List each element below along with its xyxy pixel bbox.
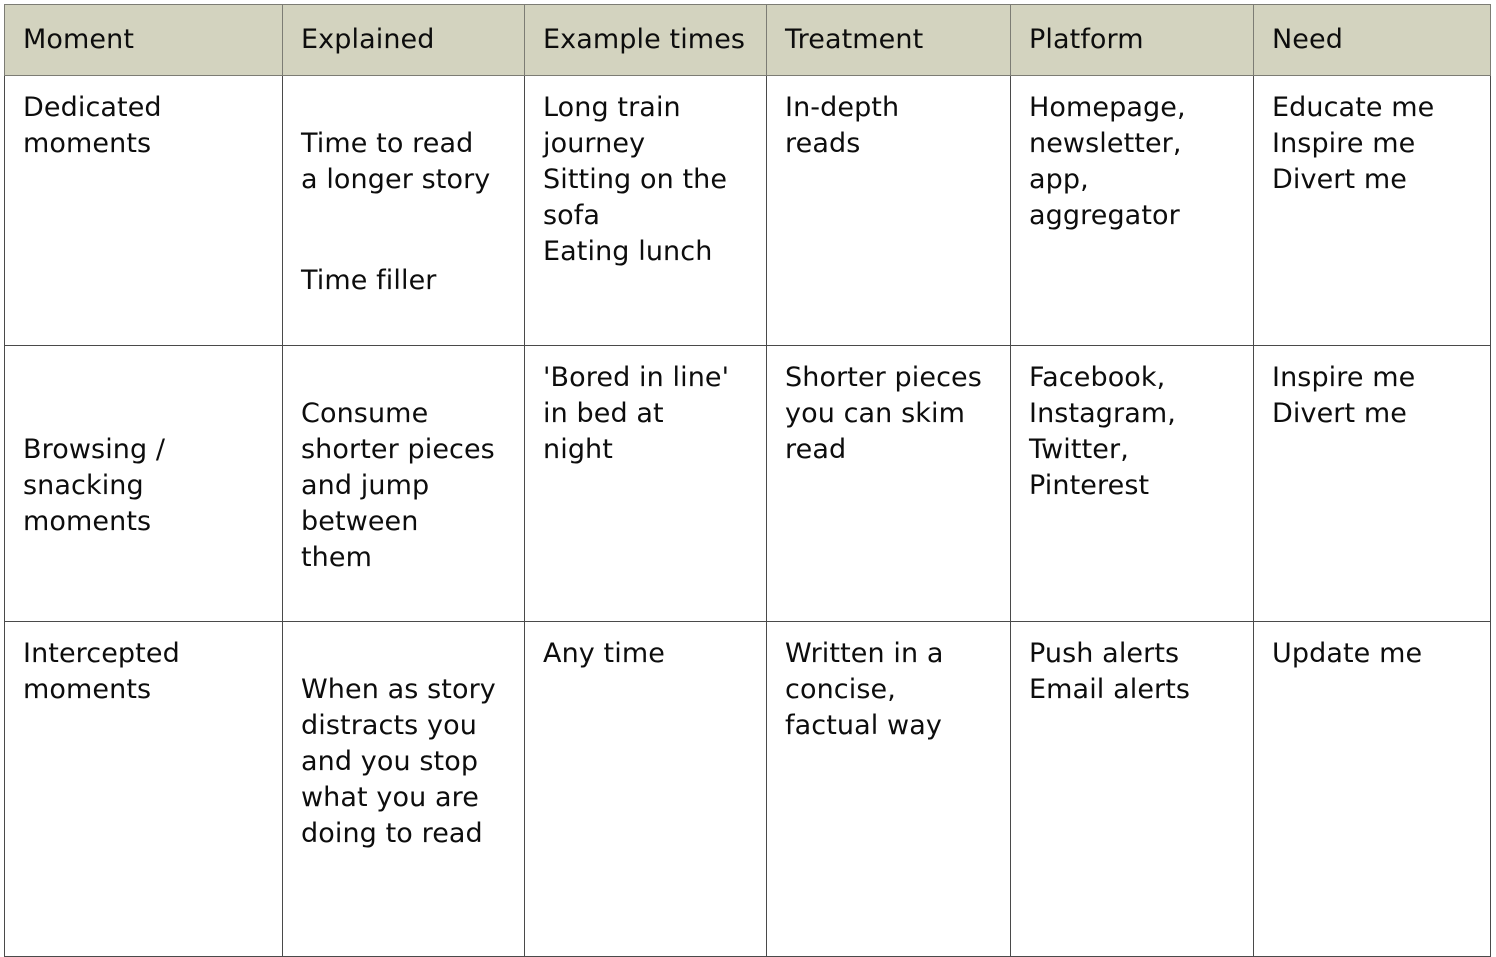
- table-body: Dedicated moments Time to read a longer …: [5, 76, 1491, 957]
- cell-treatment: Written in a concise, factual way: [767, 622, 1011, 957]
- cell-explained: Consume shorter pieces and jump between …: [283, 346, 525, 622]
- cell-example-times: Long train journey Sitting on the sofa E…: [525, 76, 767, 346]
- table-header: Moment Explained Example times Treatment…: [5, 5, 1491, 76]
- cell-explained: Time to read a longer story Time filler: [283, 76, 525, 346]
- cell-moment: Intercepted moments: [5, 622, 283, 957]
- column-header-moment: Moment: [5, 5, 283, 76]
- cell-explained: When as story distracts you and you stop…: [283, 622, 525, 957]
- cell-explained-line-1: Consume shorter pieces and jump between …: [301, 396, 506, 576]
- cell-platform: Homepage, newsletter, app, aggregator: [1011, 76, 1254, 346]
- cell-treatment: In-depth reads: [767, 76, 1011, 346]
- cell-platform: Push alerts Email alerts: [1011, 622, 1254, 957]
- cell-example-times: 'Bored in line' in bed at night: [525, 346, 767, 622]
- cell-need: Update me: [1254, 622, 1491, 957]
- cell-explained-line-2: Time filler: [301, 263, 506, 299]
- cell-platform: Facebook, Instagram, Twitter, Pinterest: [1011, 346, 1254, 622]
- cell-moment: Dedicated moments: [5, 76, 283, 346]
- column-header-platform: Platform: [1011, 5, 1254, 76]
- column-header-example-times: Example times: [525, 5, 767, 76]
- column-header-need: Need: [1254, 5, 1491, 76]
- cell-explained-line-1: Time to read a longer story: [301, 126, 506, 198]
- header-row: Moment Explained Example times Treatment…: [5, 5, 1491, 76]
- table-row: Intercepted moments When as story distra…: [5, 622, 1491, 957]
- slide-canvas: Moment Explained Example times Treatment…: [0, 0, 1496, 878]
- column-header-explained: Explained: [283, 5, 525, 76]
- reading-moments-table: Moment Explained Example times Treatment…: [4, 4, 1491, 957]
- cell-explained-line-1: When as story distracts you and you stop…: [301, 672, 506, 852]
- column-header-treatment: Treatment: [767, 5, 1011, 76]
- table-row: Dedicated moments Time to read a longer …: [5, 76, 1491, 346]
- cell-need: Educate me Inspire me Divert me: [1254, 76, 1491, 346]
- cell-need: Inspire me Divert me: [1254, 346, 1491, 622]
- cell-example-times: Any time: [525, 622, 767, 957]
- table-row: Browsing / snacking moments Consume shor…: [5, 346, 1491, 622]
- cell-moment: Browsing / snacking moments: [5, 346, 283, 622]
- cell-treatment: Shorter pieces you can skim read: [767, 346, 1011, 622]
